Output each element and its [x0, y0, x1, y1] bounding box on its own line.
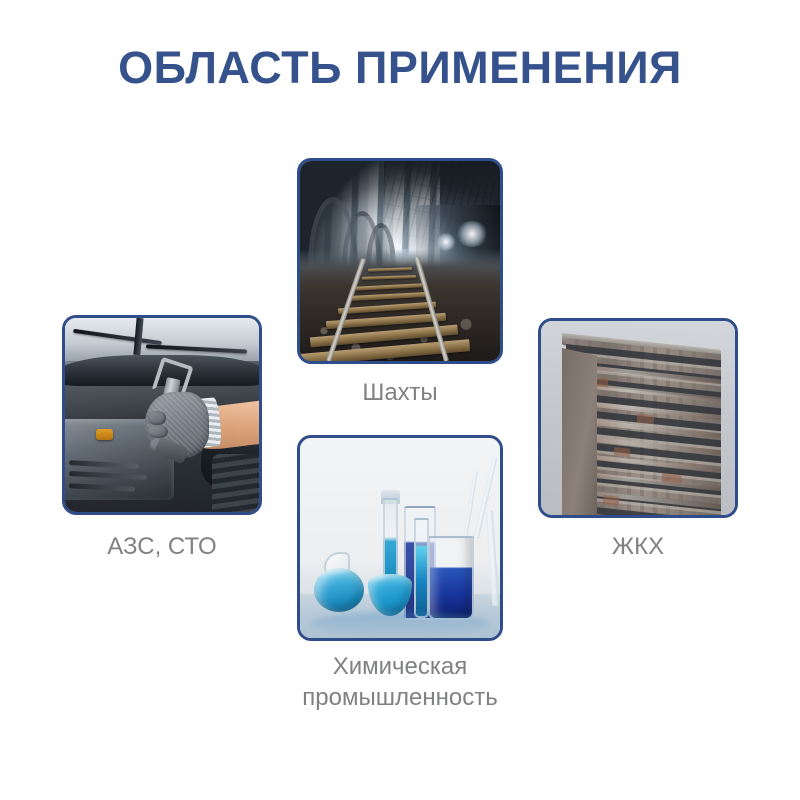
apartment-building-photo — [541, 321, 735, 515]
card-label-chem-line2: промышленность — [302, 684, 497, 711]
card-label-chem-line1: Химическая — [333, 653, 468, 680]
card-housing[interactable] — [538, 318, 738, 518]
card-auto[interactable] — [62, 315, 262, 515]
card-chem[interactable] — [297, 435, 503, 641]
car-engine-photo — [65, 318, 259, 512]
mine-tunnel-photo — [300, 161, 500, 361]
card-mine[interactable] — [297, 158, 503, 364]
card-label-auto: АЗС, СТО — [52, 532, 272, 563]
laboratory-glassware-photo — [300, 438, 500, 638]
card-label-mine: Шахты — [297, 378, 503, 409]
page-title: ОБЛАСТЬ ПРИМЕНЕНИЯ — [0, 44, 800, 91]
card-label-housing: ЖКХ — [528, 532, 748, 563]
card-label-chem: Химическая промышленность — [262, 652, 538, 713]
